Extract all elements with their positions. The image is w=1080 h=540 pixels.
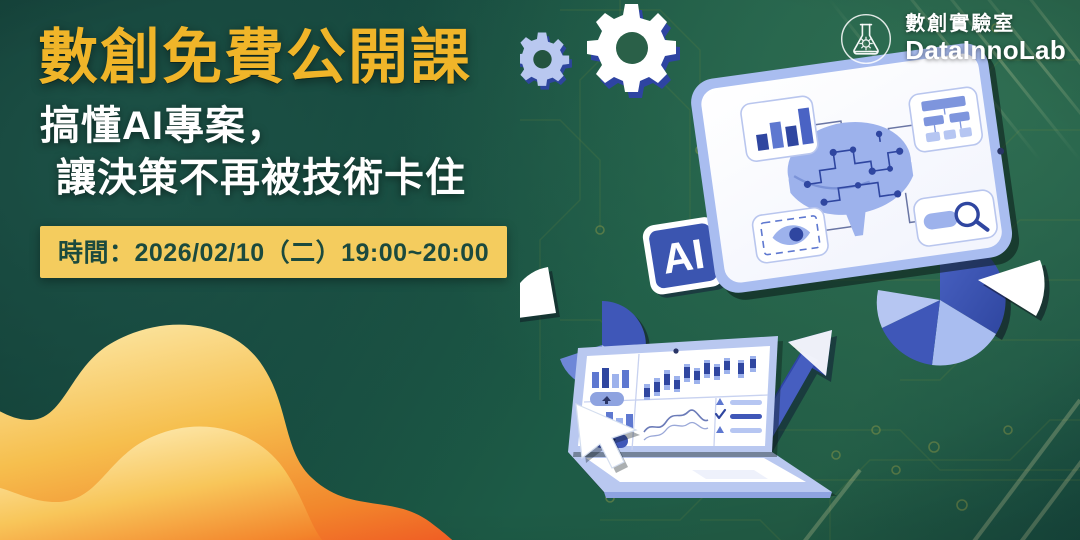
promo-banner: AI [0,0,1080,540]
bar-chart-icon [740,95,819,162]
decorative-blob-shapes [0,270,600,540]
event-date-badge: 時間：2026/02/10（二）19:00~20:00 [40,226,507,278]
search-magnifier-icon [913,189,999,248]
ai-tile-label: AI [659,230,708,283]
ai-illustration: AI [520,0,1080,540]
subtitle-line-2: 讓決策不再被技術卡住 [56,152,588,204]
subtitle-line-1: 搞懂AI專案， [40,100,588,152]
eye-detection-icon [751,206,829,264]
logo-name-en: DataInnoLab [905,37,1066,64]
subtitle: 搞懂AI專案， 讓決策不再被技術卡住 [40,100,588,204]
logo-name-cn: 數創實驗室 [905,14,1066,35]
page-title: 數創免費公開課 [38,26,588,90]
tablet-device [688,39,1022,303]
hierarchy-chart-icon [908,86,983,153]
copy-block: 數創免費公開課 搞懂AI專案， 讓決策不再被技術卡住 時間：2026/02/10… [28,26,588,278]
logo-text-block: 數創實驗室 DataInnoLab [905,14,1066,64]
brand-logo: 數創實驗室 DataInnoLab [839,12,1066,66]
flask-gear-icon [839,12,893,66]
gear-large-icon [587,4,680,98]
